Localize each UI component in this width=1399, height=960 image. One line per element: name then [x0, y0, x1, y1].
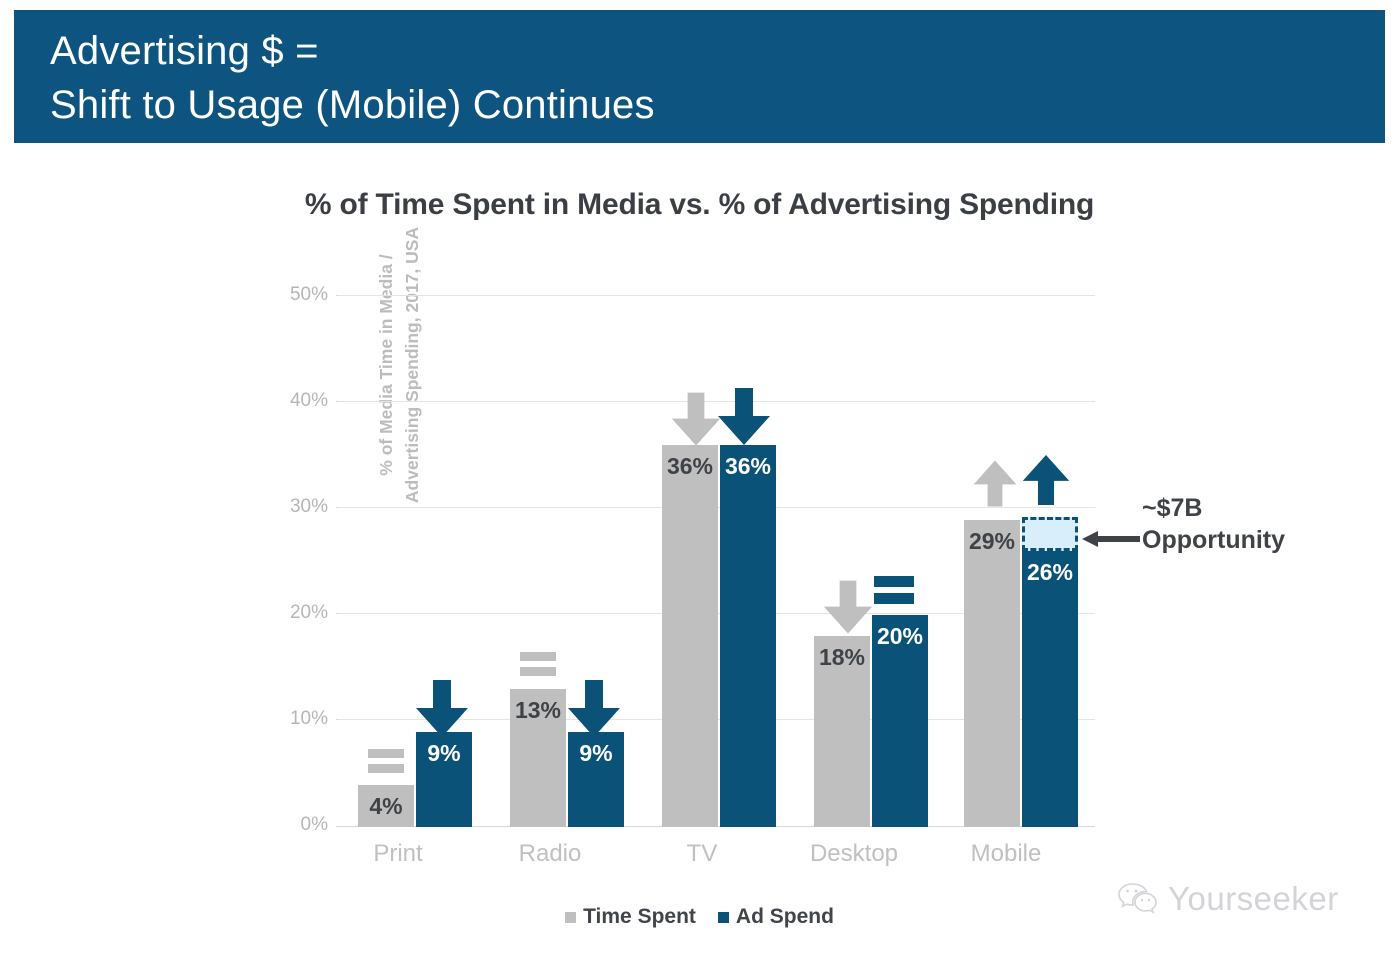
- watermark-text: Yourseeker: [1168, 880, 1339, 918]
- bar-label-tv-time-spent: 36%: [662, 453, 718, 480]
- trend-equal-icon-print-time-spent: [368, 747, 404, 777]
- bar-label-radio-time-spent: 13%: [510, 697, 566, 724]
- x-tick-label-print: Print: [328, 840, 468, 868]
- opportunity-callout-arrow-icon: [1082, 530, 1140, 548]
- trend-down-arrow-icon-tv-time-spent: [670, 392, 714, 447]
- plot-region: 4% 9% 13% 9% 36% 36% 18% 20%: [338, 295, 1095, 827]
- opportunity-callout: ~$7B Opportunity: [1142, 492, 1372, 556]
- trend-up-arrow-icon-mobile-time-spent: [972, 455, 1016, 512]
- y-tick-label-40: 40%: [272, 390, 328, 412]
- y-tick-label-30: 30%: [272, 496, 328, 518]
- x-tick-label-tv: TV: [632, 840, 772, 868]
- bar-tv-time-spent[interactable]: 36%: [662, 445, 718, 827]
- x-tick-label-mobile: Mobile: [936, 840, 1076, 868]
- gridline-50: [338, 295, 1095, 296]
- y-tick-label-0: 0%: [272, 814, 328, 836]
- y-tick-label-10: 10%: [272, 708, 328, 730]
- trend-equal-icon-radio-time-spent: [520, 650, 556, 680]
- legend-label-ad-spend: Ad Spend: [736, 905, 834, 929]
- trend-down-arrow-icon-desktop-time-spent: [822, 580, 866, 635]
- bar-label-print-ad-spend: 9%: [416, 740, 472, 767]
- bar-mobile-ad-spend[interactable]: 26%: [1022, 551, 1078, 827]
- legend-swatch-time-spent: [565, 912, 576, 923]
- bar-print-ad-spend[interactable]: 9%: [416, 732, 472, 827]
- bar-print-time-spent[interactable]: 4%: [358, 785, 414, 827]
- y-tick-label-20: 20%: [272, 602, 328, 624]
- bar-radio-ad-spend[interactable]: 9%: [568, 732, 624, 827]
- trend-down-arrow-icon-print-ad-spend: [414, 680, 458, 738]
- wechat-icon: [1118, 882, 1158, 916]
- trend-down-arrow-icon-radio-ad-spend: [566, 680, 610, 738]
- bar-label-mobile-time-spent: 29%: [964, 528, 1020, 555]
- watermark: Yourseeker: [1118, 880, 1339, 918]
- x-tick-label-radio: Radio: [480, 840, 620, 868]
- trend-up-arrow-icon-mobile-ad-spend: [1021, 450, 1065, 510]
- mobile-opportunity-box: [1022, 517, 1078, 551]
- bar-desktop-ad-spend[interactable]: 20%: [872, 615, 928, 827]
- x-tick-label-desktop: Desktop: [784, 840, 924, 868]
- bar-label-print-time-spent: 4%: [358, 793, 414, 820]
- legend-item-ad-spend[interactable]: Ad Spend: [718, 905, 834, 929]
- chart-area: % of Media Time in Media / Advertising S…: [0, 0, 1399, 960]
- bar-mobile-time-spent[interactable]: 29%: [964, 520, 1020, 827]
- legend-item-time-spent[interactable]: Time Spent: [565, 905, 696, 929]
- opportunity-label: Opportunity: [1142, 524, 1372, 556]
- legend-label-time-spent: Time Spent: [583, 905, 696, 929]
- bar-desktop-time-spent[interactable]: 18%: [814, 636, 870, 827]
- bar-label-tv-ad-spend: 36%: [720, 453, 776, 480]
- bar-label-desktop-time-spent: 18%: [814, 644, 870, 671]
- bar-label-desktop-ad-spend: 20%: [872, 623, 928, 650]
- bar-radio-time-spent[interactable]: 13%: [510, 689, 566, 827]
- trend-equal-icon-desktop-ad-spend: [874, 575, 914, 607]
- legend-swatch-ad-spend: [718, 912, 729, 923]
- bar-label-mobile-ad-spend: 26%: [1022, 559, 1078, 586]
- bar-tv-ad-spend[interactable]: 36%: [720, 445, 776, 827]
- opportunity-amount: ~$7B: [1142, 492, 1372, 524]
- bar-label-radio-ad-spend: 9%: [568, 740, 624, 767]
- trend-down-arrow-icon-tv-ad-spend: [716, 388, 760, 446]
- y-tick-label-50: 50%: [272, 284, 328, 306]
